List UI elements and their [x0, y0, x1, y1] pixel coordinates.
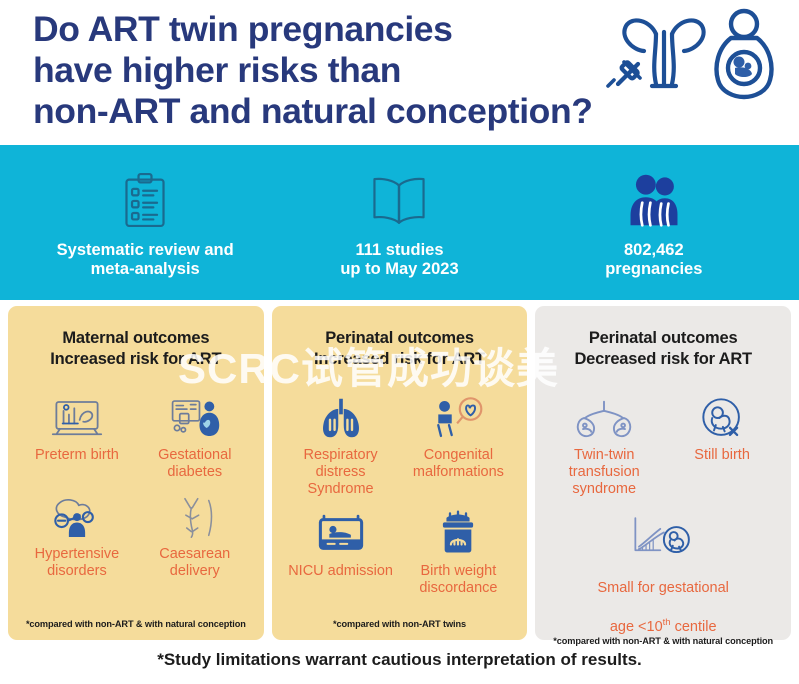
sga-line1: Small for gestational	[597, 580, 728, 596]
outcome-panels: Maternal outcomes Increased risk for ART	[0, 300, 799, 640]
footer-note: *Study limitations warrant cautious inte…	[157, 650, 642, 670]
fetus-cross-icon	[698, 388, 746, 440]
outcome-label: Caesarean delivery	[159, 546, 230, 580]
panel-outcome-grid: Twin-twin transfusion syndrome	[545, 370, 781, 636]
panel-title: Maternal outcomes Increased risk for ART	[18, 328, 254, 370]
panel-footnote: *compared with non-ART & with natural co…	[545, 636, 781, 649]
pregnant-woman-fetus-icon	[717, 11, 772, 97]
blood-pressure-pregnant-icon	[49, 487, 105, 539]
outcome-label: Congenital malformations	[413, 447, 504, 481]
panel-perinatal-decreased: Perinatal outcomes Decreased risk for AR…	[535, 306, 791, 640]
clipboard-checklist-icon	[120, 167, 170, 233]
two-people-icon	[626, 167, 682, 233]
panel-maternal-increased: Maternal outcomes Increased risk for ART	[8, 306, 264, 640]
panel-title: Perinatal outcomes Increased risk for AR…	[282, 328, 518, 370]
outcome-nicu-admission: NICU admission	[282, 498, 400, 597]
panel-footnote: *compared with non-ART twins	[282, 619, 518, 632]
uterus-syringe-icon	[608, 20, 704, 86]
stat-label: 111 studies up to May 2023	[340, 241, 458, 279]
page-title: Do ART twin pregnancies have higher risk…	[33, 6, 593, 132]
outcome-label: Still birth	[694, 447, 750, 464]
glucose-monitor-pregnant-icon	[169, 388, 221, 440]
growth-chart-fetus-icon	[630, 504, 696, 556]
outcome-gestational-diabetes: Gestational diabetes	[136, 382, 254, 481]
outcome-twin-twin-transfusion: Twin-twin transfusion syndrome	[545, 382, 663, 498]
outcome-label: NICU admission	[288, 563, 393, 580]
panel-footnote: *compared with non-ART & with natural co…	[18, 619, 254, 632]
infographic-root: Do ART twin pregnancies have higher risk…	[0, 0, 799, 684]
lungs-icon	[316, 388, 366, 440]
stat-label: 802,462 pregnancies	[605, 241, 702, 279]
panel-perinatal-increased: Perinatal outcomes Increased risk for AR…	[272, 306, 528, 640]
outcome-label: Birth weight discordance	[419, 563, 497, 597]
outcome-congenital-malformations: Congenital malformations	[400, 382, 518, 498]
panel-outcome-grid: Preterm birth	[18, 370, 254, 619]
outcome-label: Hypertensive disorders	[35, 546, 120, 580]
outcome-label: Small for gestational age <10th centile	[597, 563, 728, 636]
stat-studies-count: 111 studies up to May 2023	[272, 167, 526, 279]
header: Do ART twin pregnancies have higher risk…	[0, 0, 799, 145]
header-illustration	[594, 4, 789, 104]
outcome-small-for-gestational-age: Small for gestational age <10th centile	[545, 498, 781, 636]
outcome-label: Respiratory distress Syndrome	[284, 447, 398, 498]
outcome-label: Twin-twin transfusion syndrome	[569, 447, 640, 498]
outcome-caesarean-delivery: Caesarean delivery	[136, 481, 254, 580]
twin-fetuses-placenta-icon	[573, 388, 635, 440]
outcome-hypertensive-disorders: Hypertensive disorders	[18, 481, 136, 580]
baby-scale-icon	[434, 504, 482, 556]
baby-heart-magnifier-icon	[432, 388, 484, 440]
outcome-still-birth: Still birth	[663, 382, 781, 498]
incubator-icon	[315, 504, 367, 556]
outcome-label: Gestational diabetes	[158, 447, 231, 481]
header-illustration-svg	[594, 4, 789, 104]
stat-pregnancies-count: 802,462 pregnancies	[527, 167, 781, 279]
stat-systematic-review: Systematic review and meta-analysis	[18, 167, 272, 279]
stats-band: Systematic review and meta-analysis 111 …	[0, 145, 799, 300]
sga-line2: age <10th centile	[610, 619, 717, 635]
panel-outcome-grid: Respiratory distress Syndrome	[282, 370, 518, 619]
fetus-shape	[734, 57, 753, 78]
outcome-birth-weight-discordance: Birth weight discordance	[400, 498, 518, 597]
ultrasound-monitor-icon	[51, 388, 103, 440]
stat-label: Systematic review and meta-analysis	[57, 241, 234, 279]
panel-title: Perinatal outcomes Decreased risk for AR…	[545, 328, 781, 370]
outcome-preterm-birth: Preterm birth	[18, 382, 136, 481]
outcome-respiratory-distress: Respiratory distress Syndrome	[282, 382, 400, 498]
outcome-label: Preterm birth	[35, 447, 119, 464]
caesarean-scar-icon	[172, 487, 218, 539]
open-book-icon	[369, 167, 429, 233]
